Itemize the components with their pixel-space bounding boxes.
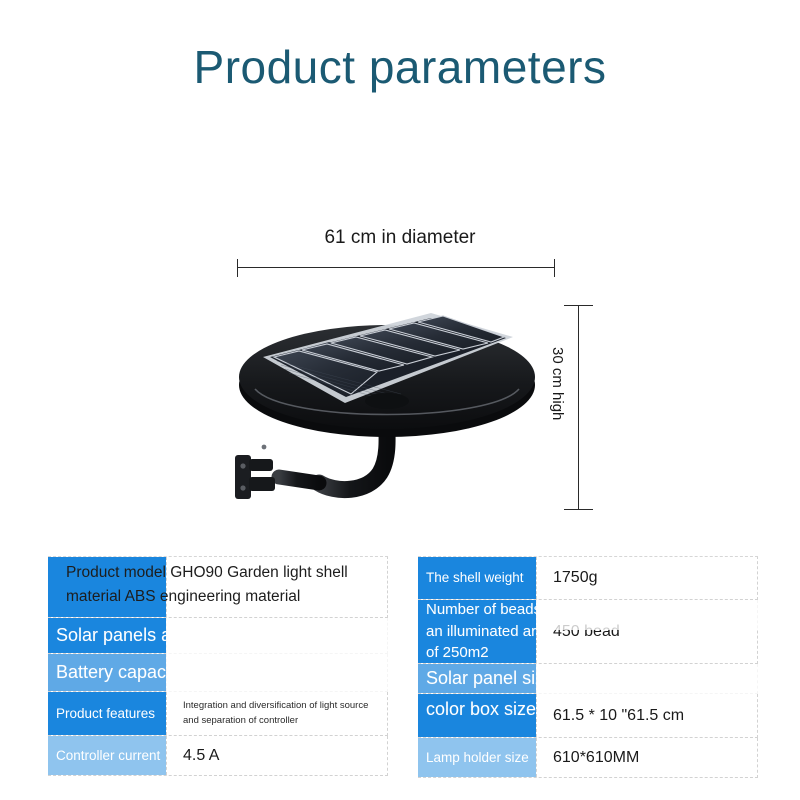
diameter-dimension-line	[237, 267, 555, 268]
spec-label-product-features: Product features	[56, 692, 166, 735]
product-figure: 61 cm in diameter 30 cm high	[0, 215, 800, 545]
spec-label-shell-weight: The shell weight	[426, 557, 536, 599]
spec-label-cell: Lamp holder size	[418, 738, 536, 777]
spec-label-cell: Battery capacity: 25A	[48, 654, 166, 691]
bracket-bolt-bottom	[240, 485, 245, 490]
table-row: Controller current 4.5 A	[48, 736, 388, 776]
spec-label-solar-panel-size: Solar panel size 510*345MM	[426, 664, 726, 693]
table-row: Solar panel size 510*345MM	[418, 664, 758, 694]
table-row: Number of beads in an illuminated area o…	[418, 600, 758, 664]
spec-label-cell: Controller current	[48, 736, 166, 775]
wall-bracket-upper	[249, 459, 273, 471]
wall-bracket-lower	[249, 477, 275, 491]
spec-label-cell: Solar panel size 510*345MM	[418, 664, 536, 693]
spec-label-lamp-holder-size: Lamp holder size	[426, 738, 536, 777]
table-row: The shell weight 1750g	[418, 556, 758, 600]
page-title: Product parameters	[0, 40, 800, 94]
spec-label-cell: color box size	[418, 694, 536, 737]
height-dimension-cap-top	[564, 305, 593, 306]
spec-label-color-box-size: color box size	[426, 694, 726, 737]
table-row: Lamp holder size 610*610MM	[418, 738, 758, 778]
diameter-dimension-cap-right	[554, 259, 555, 277]
spec-label-solar-panels: Solar panels are 6V/30W	[56, 618, 356, 653]
spec-value-number-of-beads: 450 bead	[536, 600, 757, 663]
spec-table-left: Product model GHO90 Garden light shell m…	[48, 556, 388, 778]
spec-value-lamp-holder-size: 610*610MM	[536, 738, 757, 777]
height-dimension-line	[578, 305, 579, 510]
mount-arm-horizontal	[279, 477, 319, 483]
arm-collar	[365, 393, 409, 409]
spec-table-right: The shell weight 1750g Number of beads i…	[418, 556, 758, 778]
spec-label-battery-capacity: Battery capacity: 25A	[56, 654, 356, 691]
wall-bracket-plate	[235, 455, 251, 499]
height-dimension-cap-bottom	[564, 509, 593, 510]
spec-label-cell: Number of beads in an illuminated area o…	[418, 600, 536, 663]
spec-label-controller-current: Controller current	[56, 736, 356, 775]
spec-tables: Product model GHO90 Garden light shell m…	[0, 556, 800, 786]
diameter-dimension-label: 61 cm in diameter	[240, 227, 560, 249]
spec-value-product-features: Integration and diversification of light…	[166, 692, 387, 735]
spec-label-cell	[48, 557, 166, 617]
diameter-dimension-cap-left	[237, 259, 238, 277]
label-chip	[48, 557, 166, 617]
spec-label-cell: Solar panels are 6V/30W	[48, 618, 166, 653]
spec-label-cell: Product features	[48, 692, 166, 735]
spec-value-shell-weight: 1750g	[536, 557, 757, 599]
table-row: color box size 61.5 * 10 "61.5 cm	[418, 694, 758, 738]
table-row: Product features Integration and diversi…	[48, 692, 388, 736]
solar-garden-light-illustration	[215, 277, 565, 527]
bracket-bolt-top	[240, 463, 245, 468]
bracket-pivot-bolt	[262, 445, 267, 450]
table-row: Solar panels are 6V/30W	[48, 618, 388, 654]
spec-label-cell: The shell weight	[418, 557, 536, 599]
table-row: Product model GHO90 Garden light shell m…	[48, 556, 388, 618]
table-row: Battery capacity: 25A	[48, 654, 388, 692]
spec-value-cell	[166, 557, 387, 617]
spec-label-number-of-beads: Number of beads in an illuminated area o…	[426, 600, 561, 663]
